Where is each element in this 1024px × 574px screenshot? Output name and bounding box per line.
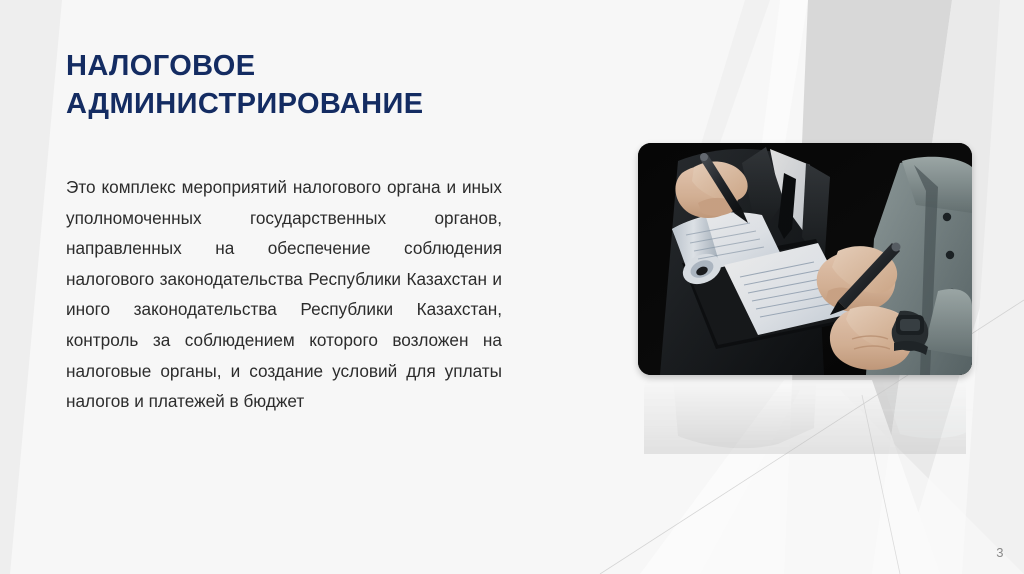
page-number: 3 <box>996 545 1004 560</box>
document-signing-illustration <box>638 143 972 375</box>
page-title: НАЛОГОВОЕ АДМИНИСТРИРОВАНИЕ <box>66 48 536 123</box>
body-paragraph: Это комплекс мероприятий налогового орга… <box>66 172 502 417</box>
photo-container <box>638 143 972 375</box>
document-signing-photo <box>638 143 972 375</box>
photo-reflection-illustration <box>644 376 966 454</box>
slide-canvas: НАЛОГОВОЕ АДМИНИСТРИРОВАНИЕ Это комплекс… <box>0 0 1024 574</box>
photo-reflection <box>644 376 966 454</box>
